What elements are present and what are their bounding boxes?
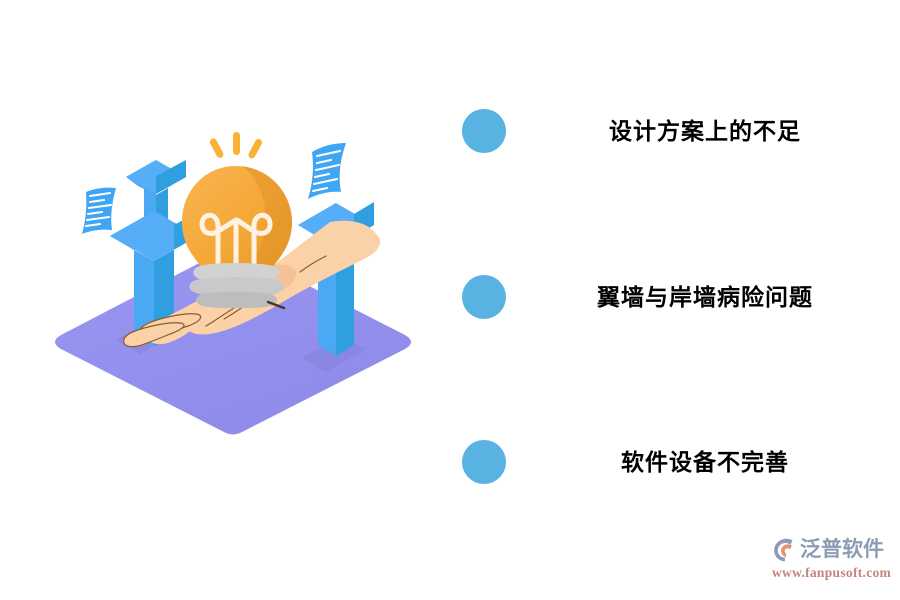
watermark-brand-text: 泛普软件 <box>800 535 884 565</box>
bullet-item-1[interactable]: 设计方案上的不足 <box>440 101 880 161</box>
bullet-dot-icon-2 <box>462 275 506 319</box>
watermark-url-text: www.fanpusoft.com <box>772 565 892 581</box>
watermark-brand-row: 泛普软件 <box>772 534 892 566</box>
watermark: 泛普软件 www.fanpusoft.com <box>772 534 892 586</box>
light-bulb <box>182 132 292 308</box>
bulb-base <box>189 263 284 308</box>
paper-scrap-left <box>82 188 116 234</box>
bullet-dot-icon-3 <box>462 440 506 484</box>
hand-holding-lightbulb-illustration <box>30 130 440 440</box>
bullet-item-2[interactable]: 翼墙与岸墙病险问题 <box>440 267 880 327</box>
bullet-label-2: 翼墙与岸墙病险问题 <box>530 267 880 327</box>
bulb-spark-rays <box>209 132 264 160</box>
bullet-label-3: 软件设备不完善 <box>530 432 880 492</box>
bullet-label-1: 设计方案上的不足 <box>530 101 880 161</box>
slide-canvas: 设计方案上的不足 翼墙与岸墙病险问题 软件设备不完善 泛普软件 www.fanp… <box>0 0 900 600</box>
fanpu-logo-icon <box>772 537 798 563</box>
bullet-list: 设计方案上的不足 翼墙与岸墙病险问题 软件设备不完善 <box>440 80 880 520</box>
bullet-dot-icon-1 <box>462 109 506 153</box>
bullet-item-3[interactable]: 软件设备不完善 <box>440 432 880 492</box>
paper-scrap-right <box>308 143 346 199</box>
